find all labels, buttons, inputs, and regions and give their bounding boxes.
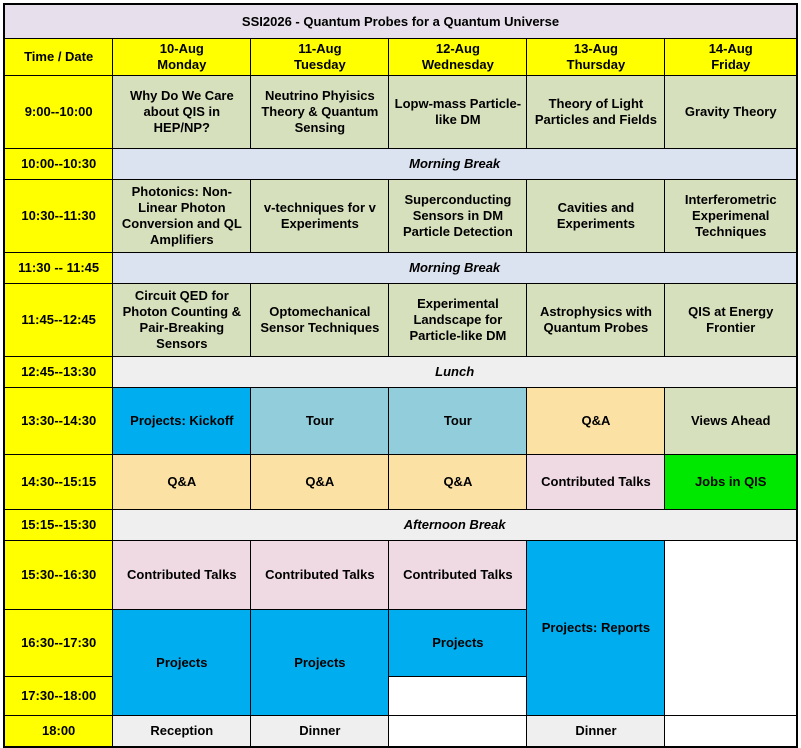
session-fri-1530 xyxy=(665,541,797,716)
schedule-table: SSI2026 - Quantum Probes for a Quantum U… xyxy=(3,3,798,748)
header-weekday: Monday xyxy=(116,57,247,73)
session-mon-1330[interactable]: Projects: Kickoff xyxy=(113,388,251,455)
session-tue-1030[interactable]: v-techniques for v Experiments xyxy=(251,180,389,253)
header-date: 14-Aug xyxy=(668,41,793,57)
header-weekday: Friday xyxy=(668,57,793,73)
header-row: Time / Date 10-Aug Monday 11-Aug Tuesday… xyxy=(4,39,797,76)
session-fri-1145[interactable]: QIS at Energy Frontier xyxy=(665,284,797,357)
session-mon-1030[interactable]: Photonics: Non-Linear Photon Conversion … xyxy=(113,180,251,253)
header-day-wednesday: 12-Aug Wednesday xyxy=(389,39,527,76)
time-label-1430: 14:30--15:15 xyxy=(4,455,113,510)
table-row: 10:00--10:30 Morning Break xyxy=(4,149,797,180)
time-label-1245: 12:45--13:30 xyxy=(4,357,113,388)
schedule-page: SSI2026 - Quantum Probes for a Quantum U… xyxy=(0,0,801,732)
table-row: 13:30--14:30 Projects: Kickoff Tour Tour… xyxy=(4,388,797,455)
header-time-label: Time / Date xyxy=(4,39,113,76)
session-wed-1030[interactable]: Superconducting Sensors in DM Particle D… xyxy=(389,180,527,253)
session-mon-0900[interactable]: Why Do We Care about QIS in HEP/NP? xyxy=(113,76,251,149)
header-day-monday: 10-Aug Monday xyxy=(113,39,251,76)
time-label-1730: 17:30--18:00 xyxy=(4,677,113,716)
time-label-1800: 18:00 xyxy=(4,716,113,748)
event-fri-1800 xyxy=(665,716,797,748)
session-wed-projects[interactable]: Projects xyxy=(389,610,527,677)
session-tue-0900[interactable]: Neutrino Phyisics Theory & Quantum Sensi… xyxy=(251,76,389,149)
header-date: 12-Aug xyxy=(392,41,523,57)
break-lunch: Lunch xyxy=(113,357,797,388)
break-morning-2: Morning Break xyxy=(113,253,797,284)
session-thu-0900[interactable]: Theory of Light Particles and Fields xyxy=(527,76,665,149)
session-fri-1030[interactable]: Interferometric Experimenal Techniques xyxy=(665,180,797,253)
header-weekday: Wednesday xyxy=(392,57,523,73)
header-weekday: Tuesday xyxy=(254,57,385,73)
session-mon-1430[interactable]: Q&A xyxy=(113,455,251,510)
session-tue-1530[interactable]: Contributed Talks xyxy=(251,541,389,610)
session-thu-1330[interactable]: Q&A xyxy=(527,388,665,455)
break-afternoon: Afternoon Break xyxy=(113,510,797,541)
session-wed-1145[interactable]: Experimental Landscape for Particle-like… xyxy=(389,284,527,357)
event-tue-1800[interactable]: Dinner xyxy=(251,716,389,748)
event-thu-1800[interactable]: Dinner xyxy=(527,716,665,748)
time-label-1145: 11:45--12:45 xyxy=(4,284,113,357)
time-label-1515: 15:15--15:30 xyxy=(4,510,113,541)
session-fri-1430[interactable]: Jobs in QIS xyxy=(665,455,797,510)
session-mon-1145[interactable]: Circuit QED for Photon Counting & Pair-B… xyxy=(113,284,251,357)
table-row: 18:00 Reception Dinner Dinner xyxy=(4,716,797,748)
header-date: 13-Aug xyxy=(530,41,661,57)
table-row: 15:15--15:30 Afternoon Break xyxy=(4,510,797,541)
session-thu-1030[interactable]: Cavities and Experiments xyxy=(527,180,665,253)
session-mon-projects[interactable]: Projects xyxy=(113,610,251,716)
session-thu-1430[interactable]: Contributed Talks xyxy=(527,455,665,510)
table-row: 10:30--11:30 Photonics: Non-Linear Photo… xyxy=(4,180,797,253)
table-row: 15:30--16:30 Contributed Talks Contribut… xyxy=(4,541,797,610)
session-thu-1145[interactable]: Astrophysics with Quantum Probes xyxy=(527,284,665,357)
page-title: SSI2026 - Quantum Probes for a Quantum U… xyxy=(4,4,797,39)
time-label-1330: 13:30--14:30 xyxy=(4,388,113,455)
header-date: 11-Aug xyxy=(254,41,385,57)
session-tue-1430[interactable]: Q&A xyxy=(251,455,389,510)
header-weekday: Thursday xyxy=(530,57,661,73)
table-row: 11:30 -- 11:45 Morning Break xyxy=(4,253,797,284)
session-tue-1330[interactable]: Tour xyxy=(251,388,389,455)
session-tue-1145[interactable]: Optomechanical Sensor Techniques xyxy=(251,284,389,357)
session-wed-1430[interactable]: Q&A xyxy=(389,455,527,510)
header-day-friday: 14-Aug Friday xyxy=(665,39,797,76)
time-label-1030: 10:30--11:30 xyxy=(4,180,113,253)
time-label-1000: 10:00--10:30 xyxy=(4,149,113,180)
session-wed-0900[interactable]: Lopw-mass Particle-like DM xyxy=(389,76,527,149)
session-mon-1530[interactable]: Contributed Talks xyxy=(113,541,251,610)
session-wed-1530[interactable]: Contributed Talks xyxy=(389,541,527,610)
header-date: 10-Aug xyxy=(116,41,247,57)
time-label-1630: 16:30--17:30 xyxy=(4,610,113,677)
time-label-1130: 11:30 -- 11:45 xyxy=(4,253,113,284)
header-day-thursday: 13-Aug Thursday xyxy=(527,39,665,76)
event-wed-1800 xyxy=(389,716,527,748)
table-row: 12:45--13:30 Lunch xyxy=(4,357,797,388)
event-mon-1800[interactable]: Reception xyxy=(113,716,251,748)
table-row: 9:00--10:00 Why Do We Care about QIS in … xyxy=(4,76,797,149)
session-thu-projects-reports[interactable]: Projects: Reports xyxy=(527,541,665,716)
time-label-0900: 9:00--10:00 xyxy=(4,76,113,149)
session-tue-projects[interactable]: Projects xyxy=(251,610,389,716)
session-fri-0900[interactable]: Gravity Theory xyxy=(665,76,797,149)
session-wed-1730 xyxy=(389,677,527,716)
title-row: SSI2026 - Quantum Probes for a Quantum U… xyxy=(4,4,797,39)
table-row: 11:45--12:45 Circuit QED for Photon Coun… xyxy=(4,284,797,357)
table-row: 14:30--15:15 Q&A Q&A Q&A Contributed Tal… xyxy=(4,455,797,510)
header-day-tuesday: 11-Aug Tuesday xyxy=(251,39,389,76)
break-morning-1: Morning Break xyxy=(113,149,797,180)
session-wed-1330[interactable]: Tour xyxy=(389,388,527,455)
session-fri-1330[interactable]: Views Ahead xyxy=(665,388,797,455)
time-label-1530: 15:30--16:30 xyxy=(4,541,113,610)
